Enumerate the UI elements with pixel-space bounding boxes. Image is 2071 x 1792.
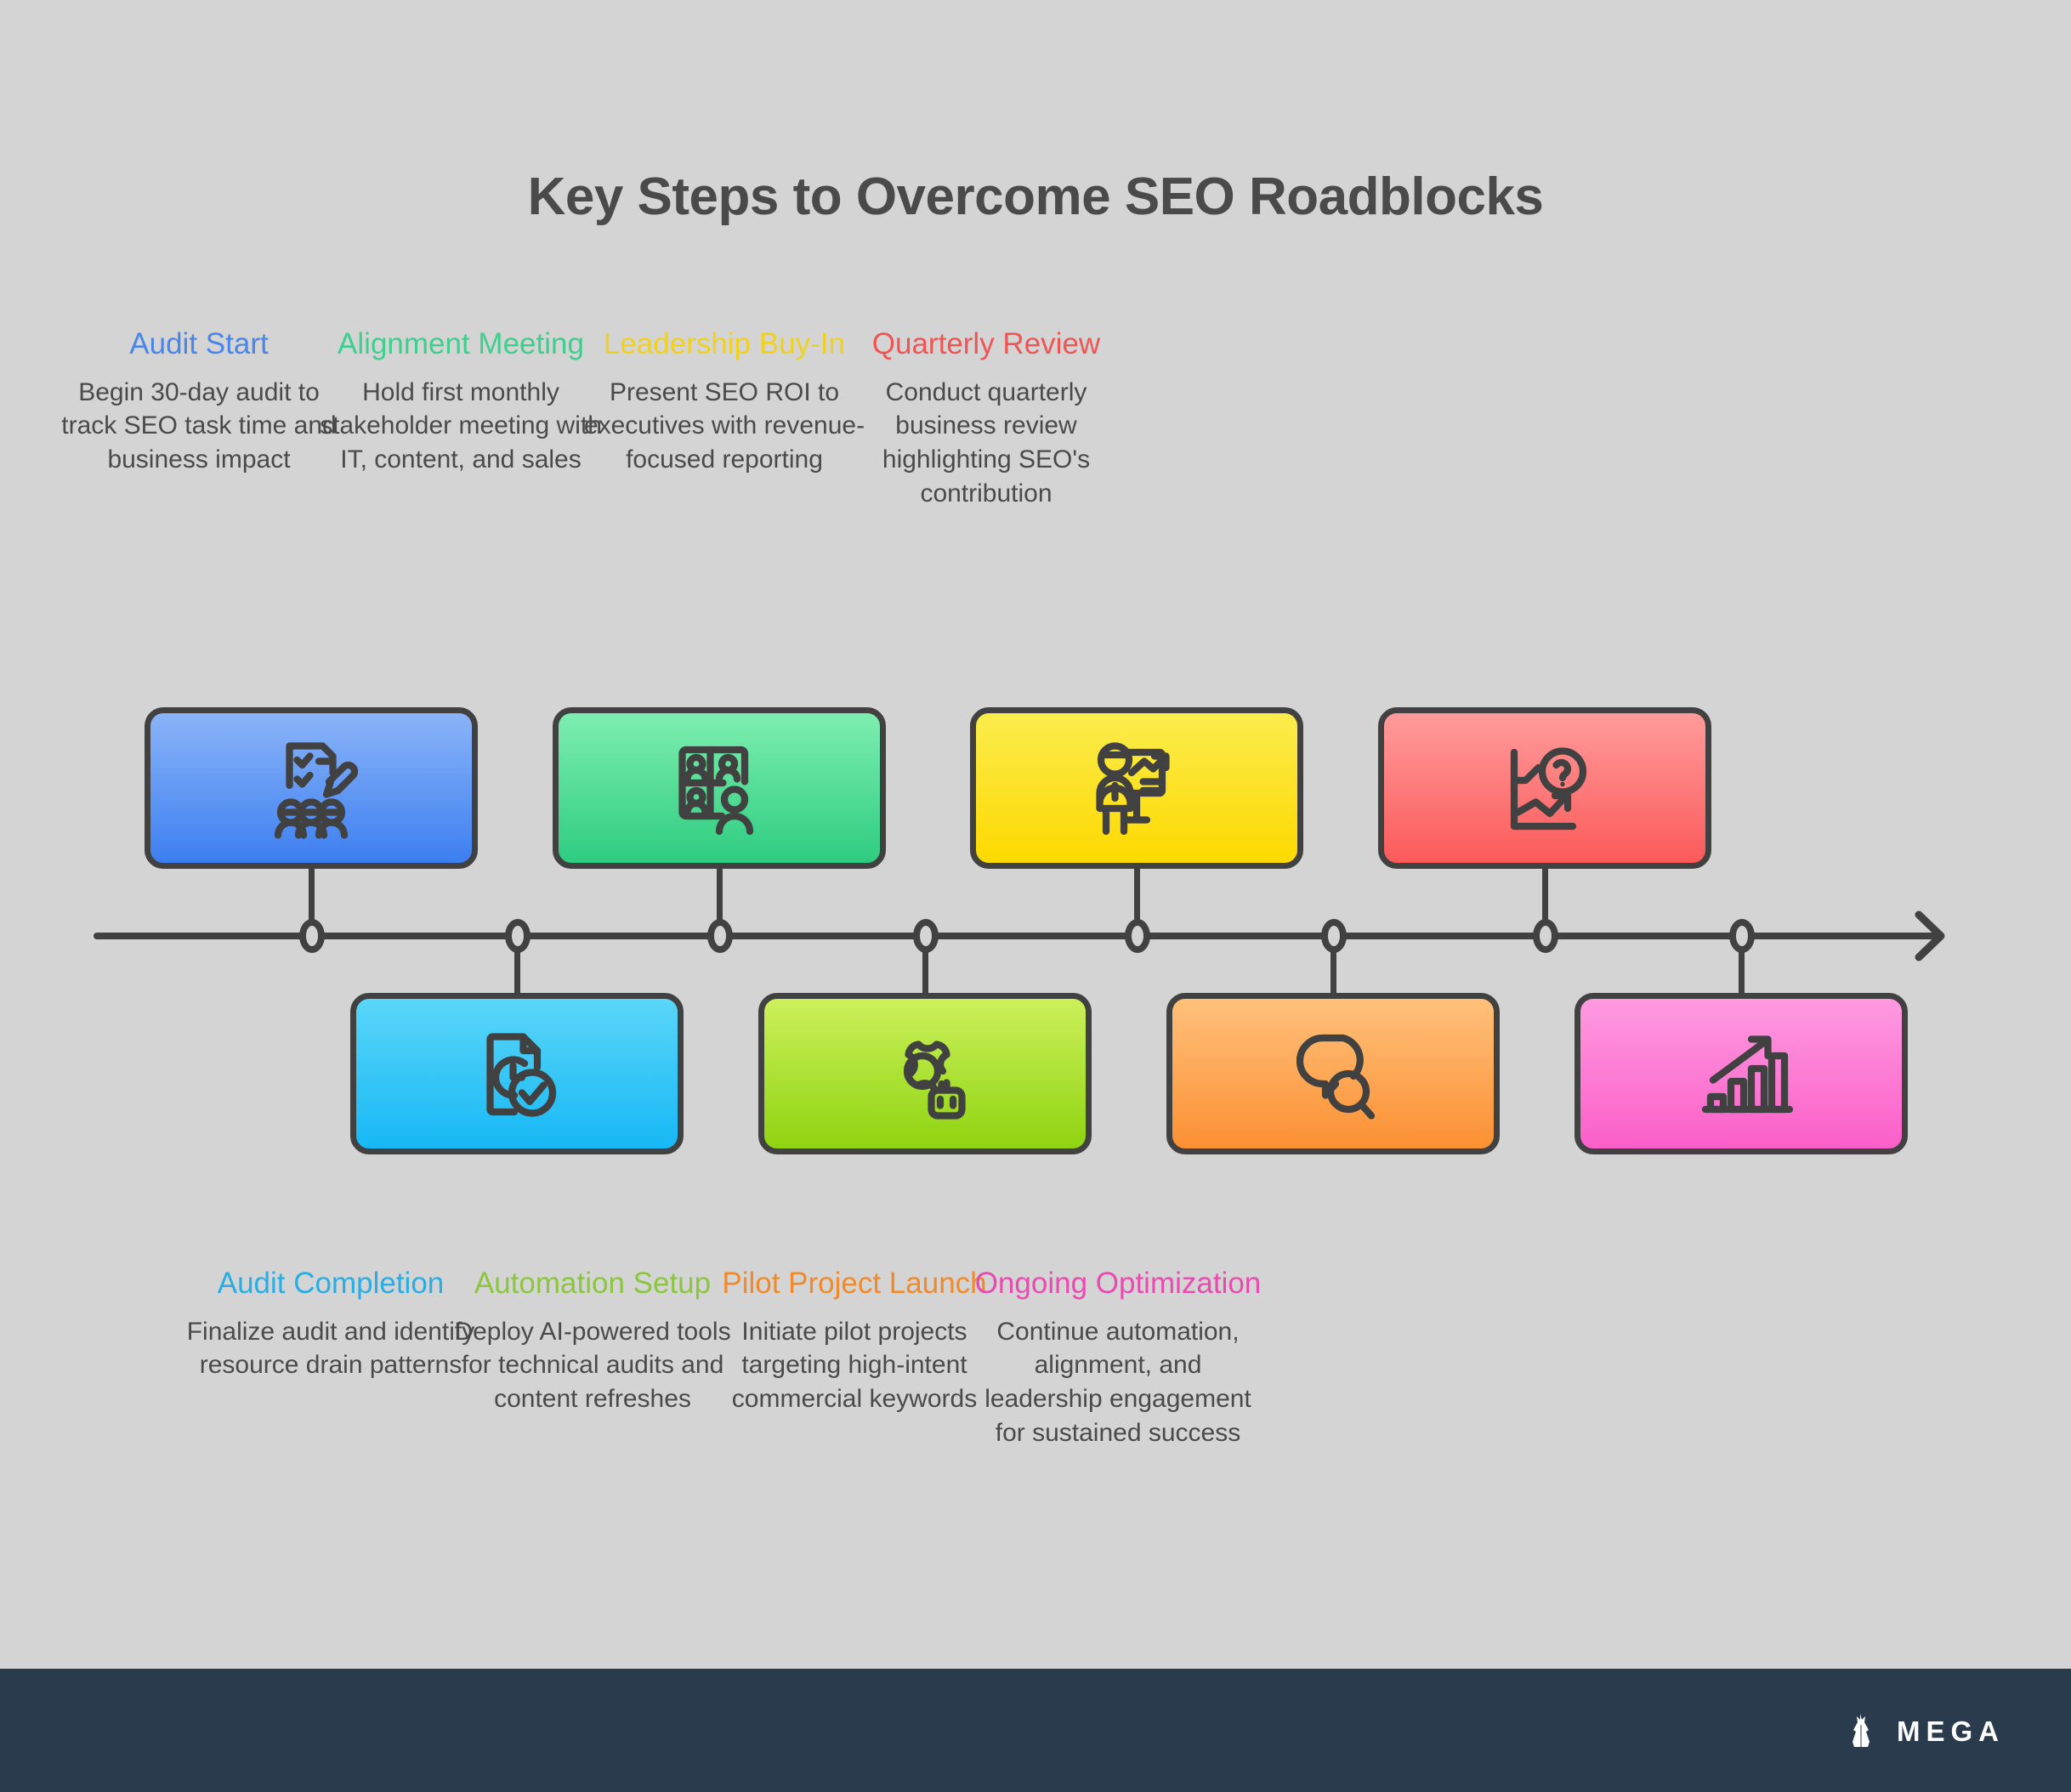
step-description: Deploy AI-powered tools for technical au…: [448, 1315, 737, 1417]
document-clock-check-icon: [453, 1010, 581, 1137]
step-description: Hold first monthly stakeholder meeting w…: [316, 376, 605, 478]
timeline-node: [1125, 919, 1150, 953]
step-card-audit-completion[interactable]: [350, 993, 684, 1154]
brand-name: MEGA: [1897, 1715, 2005, 1748]
step-label: Alignment Meeting: [316, 327, 605, 362]
step-card-ongoing-optimization[interactable]: [1575, 993, 1908, 1154]
step-description: Begin 30-day audit to track SEO task tim…: [54, 376, 343, 478]
growth-bar-chart-icon: [1677, 1010, 1805, 1137]
step-description: Finalize audit and identify resource dra…: [186, 1315, 475, 1383]
infographic-canvas: Key Steps to Overcome SEO Roadblocks Aud…: [0, 0, 2071, 1792]
step-text-quarterly-review: Quarterly Review Conduct quarterly busin…: [842, 327, 1131, 511]
presentation-person-icon: [1073, 724, 1200, 852]
step-text-automation-setup: Automation Setup Deploy AI-powered tools…: [448, 1267, 737, 1416]
step-description: Conduct quarterly business review highli…: [842, 376, 1131, 512]
checklist-people-icon: [247, 724, 375, 852]
video-conference-icon: [655, 724, 783, 852]
speech-bubble-search-icon: [1269, 1010, 1397, 1137]
footer-bar: MEGA: [0, 1669, 2071, 1792]
step-label: Quarterly Review: [842, 327, 1131, 362]
step-text-audit-start: Audit Start Begin 30-day audit to track …: [54, 327, 343, 477]
step-description: Initiate pilot projects targeting high-i…: [710, 1315, 999, 1417]
step-description: Present SEO ROI to executives with reven…: [580, 376, 869, 478]
step-label: Audit Completion: [186, 1267, 475, 1301]
step-label: Audit Start: [54, 327, 343, 362]
step-text-alignment-meeting: Alignment Meeting Hold first monthly sta…: [316, 327, 605, 477]
step-card-alignment-meeting[interactable]: [553, 707, 886, 869]
step-label: Automation Setup: [448, 1267, 737, 1301]
step-text-ongoing-optimization: Ongoing Optimization Continue automation…: [973, 1267, 1262, 1450]
step-card-audit-start[interactable]: [145, 707, 478, 869]
timeline-node: [707, 919, 733, 953]
step-text-pilot-project-launch: Pilot Project Launch Initiate pilot proj…: [710, 1267, 999, 1416]
step-card-automation-setup[interactable]: [758, 993, 1092, 1154]
step-text-leadership-buy-in: Leadership Buy-In Present SEO ROI to exe…: [580, 327, 869, 477]
arrow-right-icon: [1907, 903, 1958, 969]
chart-question-icon: [1481, 724, 1609, 852]
gear-robot-icon: [861, 1010, 989, 1137]
step-label: Leadership Buy-In: [580, 327, 869, 362]
step-description: Continue automation, alignment, and lead…: [973, 1315, 1262, 1451]
step-card-quarterly-review[interactable]: [1378, 707, 1711, 869]
timeline-node: [1729, 919, 1755, 953]
step-label: Ongoing Optimization: [973, 1267, 1262, 1301]
timeline-node: [505, 919, 531, 953]
brand-logo: MEGA: [1844, 1711, 2005, 1752]
step-label: Pilot Project Launch: [710, 1267, 999, 1301]
mega-statue-icon: [1844, 1711, 1878, 1752]
timeline-node: [1321, 919, 1347, 953]
step-text-audit-completion: Audit Completion Finalize audit and iden…: [186, 1267, 475, 1382]
step-card-pilot-project-launch[interactable]: [1166, 993, 1500, 1154]
timeline-node: [1533, 919, 1558, 953]
page-title: Key Steps to Overcome SEO Roadblocks: [0, 167, 2071, 227]
timeline-node: [299, 919, 325, 953]
timeline-node: [913, 919, 939, 953]
step-card-leadership-buy-in[interactable]: [970, 707, 1303, 869]
timeline-axis: [94, 933, 1938, 939]
